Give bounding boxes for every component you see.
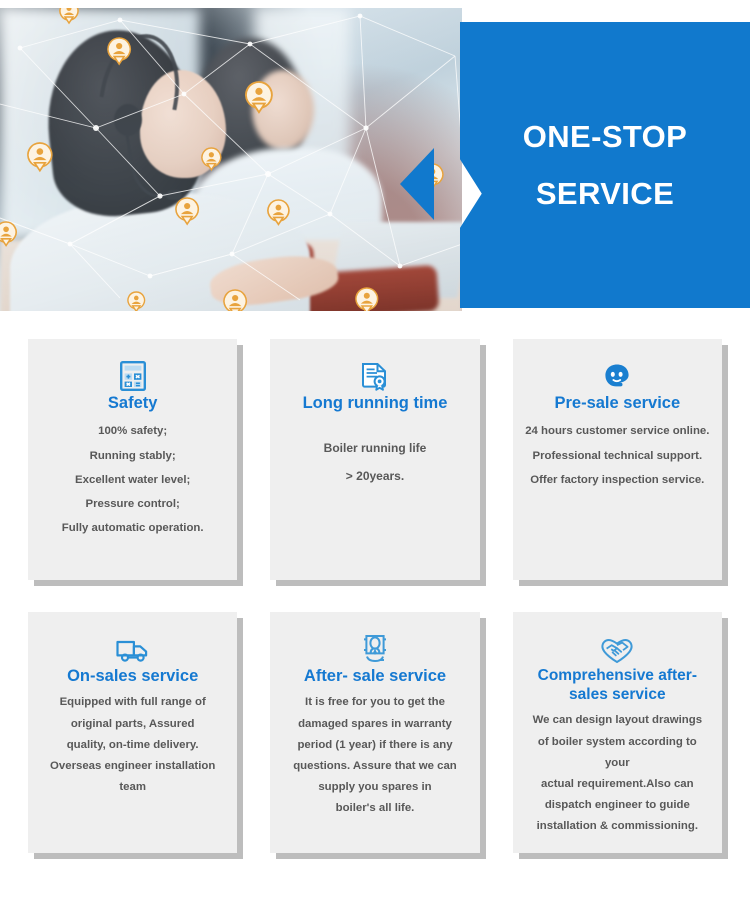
card-body: 100% safety; Running stably; Excellent w… — [62, 419, 204, 540]
card-body-line: dispatch engineer to guide — [525, 795, 710, 816]
card-body-line: Equipped with full range of — [50, 692, 215, 713]
calculator-icon — [120, 357, 146, 391]
card-title: After- sale service — [304, 666, 446, 686]
card-title: Pre-sale service — [554, 393, 680, 413]
card-body-line: Running stably; — [62, 444, 204, 468]
card-body-line: We can design layout drawings — [525, 710, 710, 731]
card-body-line: > 20years. — [324, 463, 427, 491]
card-body-line: Overseas engineer installation — [50, 756, 215, 777]
card-body-line: Boiler running life — [324, 435, 427, 463]
customer-face-icon — [602, 357, 632, 391]
hero-title-line-1: ONE-STOP — [523, 121, 688, 152]
hero-chevron-wedge — [400, 148, 434, 220]
card-body: Equipped with full range of original par… — [50, 692, 215, 797]
card-body-line: boiler's all life. — [293, 798, 457, 819]
handshake-heart-icon — [600, 630, 634, 664]
service-card-long-running-time[interactable]: Long running time Boiler running life > … — [270, 339, 479, 580]
hero-banner: ONE-STOP SERVICE — [0, 0, 750, 311]
card-body-line: questions. Assure that we can — [293, 756, 457, 777]
card-title: Long running time — [303, 393, 448, 413]
card-body-line: 24 hours customer service online. — [525, 419, 709, 443]
card-title: Safety — [108, 393, 158, 413]
service-card-pre-sale[interactable]: Pre-sale service 24 hours customer servi… — [513, 339, 722, 580]
card-body-line: damaged spares in warranty — [293, 714, 457, 735]
card-body-line: quality, on-time delivery. — [50, 735, 215, 756]
card-title: Comprehensive after-sales service — [525, 666, 710, 704]
card-body-line: Pressure control; — [62, 492, 204, 516]
card-body-line: installation & commissioning. — [525, 816, 710, 837]
card-body-line: supply you spares in — [293, 777, 457, 798]
card-body-line: Professional technical support. — [525, 444, 709, 468]
card-body: It is free for you to get the damaged sp… — [293, 692, 457, 819]
service-card-comprehensive-after-sales[interactable]: Comprehensive after-sales service We can… — [513, 612, 722, 853]
card-body-line: original parts, Assured — [50, 714, 215, 735]
card-body-line: team — [50, 777, 215, 798]
hero-title-line-2: SERVICE — [536, 178, 674, 209]
service-card-on-sales[interactable]: On-sales service Equipped with full rang… — [28, 612, 237, 853]
card-body-line: period (1 year) if there is any — [293, 735, 457, 756]
certificate-icon — [360, 357, 390, 391]
hero-blue-panel: ONE-STOP SERVICE — [460, 22, 750, 308]
network-overlay — [0, 8, 462, 311]
card-body-line: actual requirement.Also can — [525, 774, 710, 795]
card-title: On-sales service — [67, 666, 198, 686]
delivery-truck-icon — [116, 630, 150, 664]
card-body-line: Fully automatic operation. — [62, 516, 204, 540]
card-body-line: of boiler system according to your — [525, 732, 710, 774]
card-body: 24 hours customer service online. Profes… — [525, 419, 709, 492]
service-card-safety[interactable]: Safety 100% safety; Running stably; Exce… — [28, 339, 237, 580]
person-pin-markers — [0, 8, 443, 311]
card-body-line: Excellent water level; — [62, 468, 204, 492]
support-agent-icon — [362, 630, 388, 664]
card-body-line: 100% safety; — [62, 419, 204, 443]
card-body: We can design layout drawings of boiler … — [525, 710, 710, 837]
card-body-line: Offer factory inspection service. — [525, 468, 709, 492]
card-body-line: It is free for you to get the — [293, 692, 457, 713]
service-card-after-sale[interactable]: After- sale service It is free for you t… — [270, 612, 479, 853]
card-body: Boiler running life > 20years. — [324, 435, 427, 490]
service-card-grid: Safety 100% safety; Running stably; Exce… — [0, 311, 750, 897]
